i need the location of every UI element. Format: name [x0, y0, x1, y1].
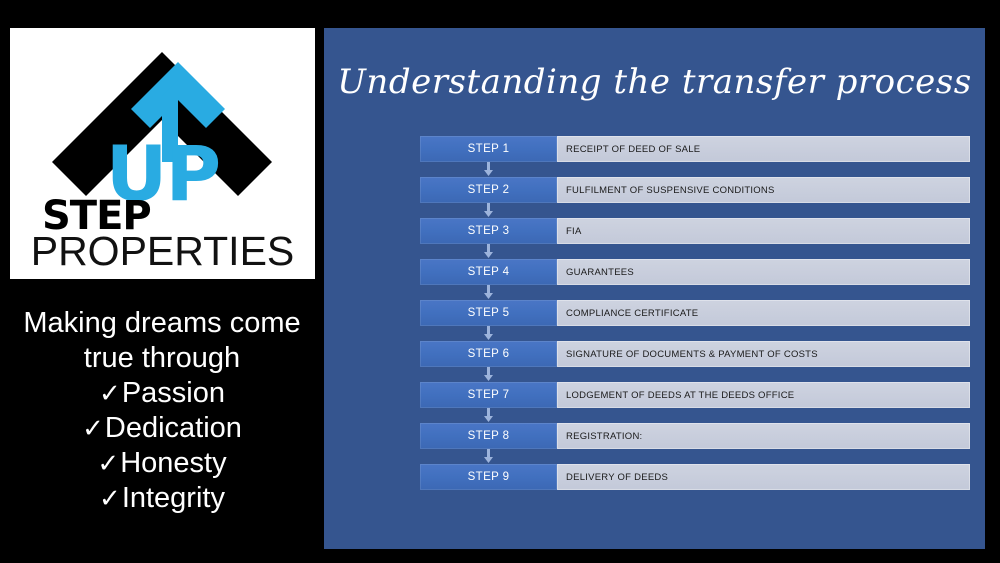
step-row: STEP 7 LODGEMENT OF DEEDS AT THE DEEDS O…: [420, 382, 970, 408]
step-row: STEP 5 COMPLIANCE CERTIFICATE: [420, 300, 970, 326]
tagline-value-honesty: ✓Honesty: [8, 446, 316, 481]
arrow-down-icon: [481, 285, 496, 300]
step-label: STEP 2: [420, 177, 557, 203]
step-description: LODGEMENT OF DEEDS AT THE DEEDS OFFICE: [557, 382, 970, 408]
step-description: COMPLIANCE CERTIFICATE: [557, 300, 970, 326]
transfer-process-panel: Understanding the transfer process STEP …: [324, 28, 985, 549]
step-label: STEP 9: [420, 464, 557, 490]
tagline-value-label: Dedication: [105, 412, 242, 444]
tagline-line-1: Making dreams come: [8, 306, 316, 341]
arrow-down-icon: [481, 449, 496, 464]
arrow-down-icon: [481, 367, 496, 382]
step-row: STEP 4 GUARANTEES: [420, 259, 970, 285]
slide-canvas: UP STEP PROPERTIES Making dreams come tr…: [0, 0, 1000, 563]
step-description: GUARANTEES: [557, 259, 970, 285]
step-row: STEP 8 REGISTRATION:: [420, 423, 970, 449]
step-label: STEP 6: [420, 341, 557, 367]
arrow-down-icon: [481, 162, 496, 177]
step-label: STEP 5: [420, 300, 557, 326]
step-label: STEP 4: [420, 259, 557, 285]
logo-box: UP STEP PROPERTIES: [10, 28, 315, 279]
step-description: RECEIPT OF DEED OF SALE: [557, 136, 970, 162]
page-title: Understanding the transfer process: [324, 62, 985, 102]
step-row: STEP 2 FULFILMENT OF SUSPENSIVE CONDITIO…: [420, 177, 970, 203]
steps-list: STEP 1 RECEIPT OF DEED OF SALE STEP 2 FU…: [420, 136, 970, 490]
step-label: STEP 8: [420, 423, 557, 449]
step-row: STEP 9 DELIVERY OF DEEDS: [420, 464, 970, 490]
tagline-line-2: true through: [8, 341, 316, 376]
arrow-down-icon: [481, 244, 496, 259]
tagline-value-label: Honesty: [120, 447, 226, 479]
step-description: FIA: [557, 218, 970, 244]
step-description: SIGNATURE OF DOCUMENTS & PAYMENT OF COST…: [557, 341, 970, 367]
arrow-down-icon: [481, 408, 496, 423]
step-label: STEP 7: [420, 382, 557, 408]
step-row: STEP 6 SIGNATURE OF DOCUMENTS & PAYMENT …: [420, 341, 970, 367]
tagline-value-dedication: ✓Dedication: [8, 411, 316, 446]
arrow-down-icon: [481, 326, 496, 341]
check-icon: ✓: [82, 413, 104, 443]
arrow-down-icon: [481, 203, 496, 218]
step-label: STEP 1: [420, 136, 557, 162]
tagline-value-label: Passion: [122, 377, 225, 409]
tagline-value-passion: ✓Passion: [8, 376, 316, 411]
step-label: STEP 3: [420, 218, 557, 244]
check-icon: ✓: [97, 448, 119, 478]
step-row: STEP 3 FIA: [420, 218, 970, 244]
tagline-value-integrity: ✓Integrity: [8, 481, 316, 516]
logo-properties-text: PROPERTIES: [10, 231, 315, 272]
step-description: FULFILMENT OF SUSPENSIVE CONDITIONS: [557, 177, 970, 203]
check-icon: ✓: [99, 483, 121, 513]
step-row: STEP 1 RECEIPT OF DEED OF SALE: [420, 136, 970, 162]
step-description: DELIVERY OF DEEDS: [557, 464, 970, 490]
step-description: REGISTRATION:: [557, 423, 970, 449]
tagline-block: Making dreams come true through ✓Passion…: [8, 306, 316, 516]
check-icon: ✓: [99, 378, 121, 408]
tagline-value-label: Integrity: [122, 482, 225, 514]
